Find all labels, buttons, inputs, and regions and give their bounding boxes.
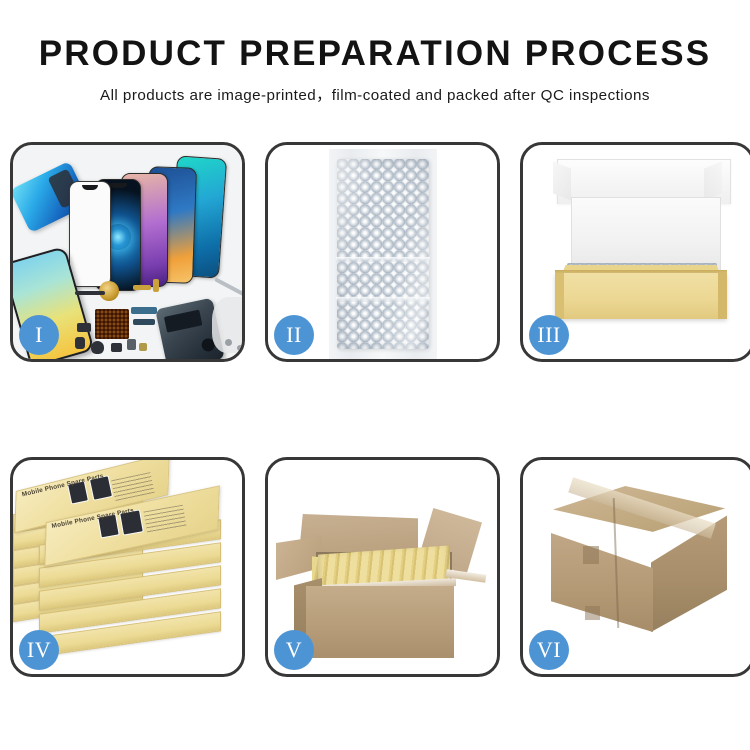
carton-tab <box>583 546 599 564</box>
wrap-seam <box>336 257 430 262</box>
carton-front-face <box>306 586 454 658</box>
carton-tab <box>585 606 600 620</box>
wrap-seam <box>336 297 430 302</box>
small-component-part <box>75 337 85 349</box>
phone-screen-fan-image <box>61 155 241 285</box>
step-badge-2: II <box>274 315 314 355</box>
phone-notch <box>109 183 127 188</box>
screw-part <box>225 339 232 346</box>
step-badge-1: I <box>19 315 59 355</box>
gold-bar-part <box>133 285 151 290</box>
step-badge-3: III <box>529 315 569 355</box>
phone-screen-white-glass <box>69 181 111 287</box>
step-badge-6: VI <box>529 630 569 670</box>
spare-parts-group-image <box>75 277 242 359</box>
gold-pin-part <box>153 279 159 292</box>
screw-part <box>237 345 242 351</box>
process-step-2: II <box>265 142 500 362</box>
flex-cable-part <box>133 319 155 325</box>
connector-grid-part <box>95 309 129 339</box>
page-subtitle: All products are image-printed，film-coat… <box>0 73 750 105</box>
box-left-lip <box>555 273 564 319</box>
small-component-part <box>127 339 136 350</box>
bubble-wrap-image <box>337 159 429 349</box>
step-badge-5: V <box>274 630 314 670</box>
header: PRODUCT PREPARATION PROCESS All products… <box>0 0 750 105</box>
box-lid-ear-left <box>553 161 571 200</box>
kraft-box-body <box>555 273 727 319</box>
step-badge-4: IV <box>19 630 59 670</box>
process-step-1: I <box>10 142 245 362</box>
small-component-part <box>111 343 122 352</box>
carton-front-face <box>551 522 653 632</box>
process-step-5: V <box>265 457 500 677</box>
phone-notch <box>82 185 98 190</box>
flex-bar-part <box>75 291 105 295</box>
box-right-lip <box>718 273 727 319</box>
process-step-3: III <box>520 142 750 362</box>
page-title: PRODUCT PREPARATION PROCESS <box>0 0 750 73</box>
process-step-6: VI <box>520 457 750 677</box>
small-component-part <box>139 343 147 351</box>
flex-cable-part <box>131 307 157 314</box>
process-step-4: Mobile Phone Spare Parts Mobile Phone Sp… <box>10 457 245 677</box>
tweezers-image <box>214 277 242 296</box>
small-component-part <box>77 323 91 332</box>
speaker-part <box>91 341 104 354</box>
process-step-grid: I II III <box>10 142 745 677</box>
